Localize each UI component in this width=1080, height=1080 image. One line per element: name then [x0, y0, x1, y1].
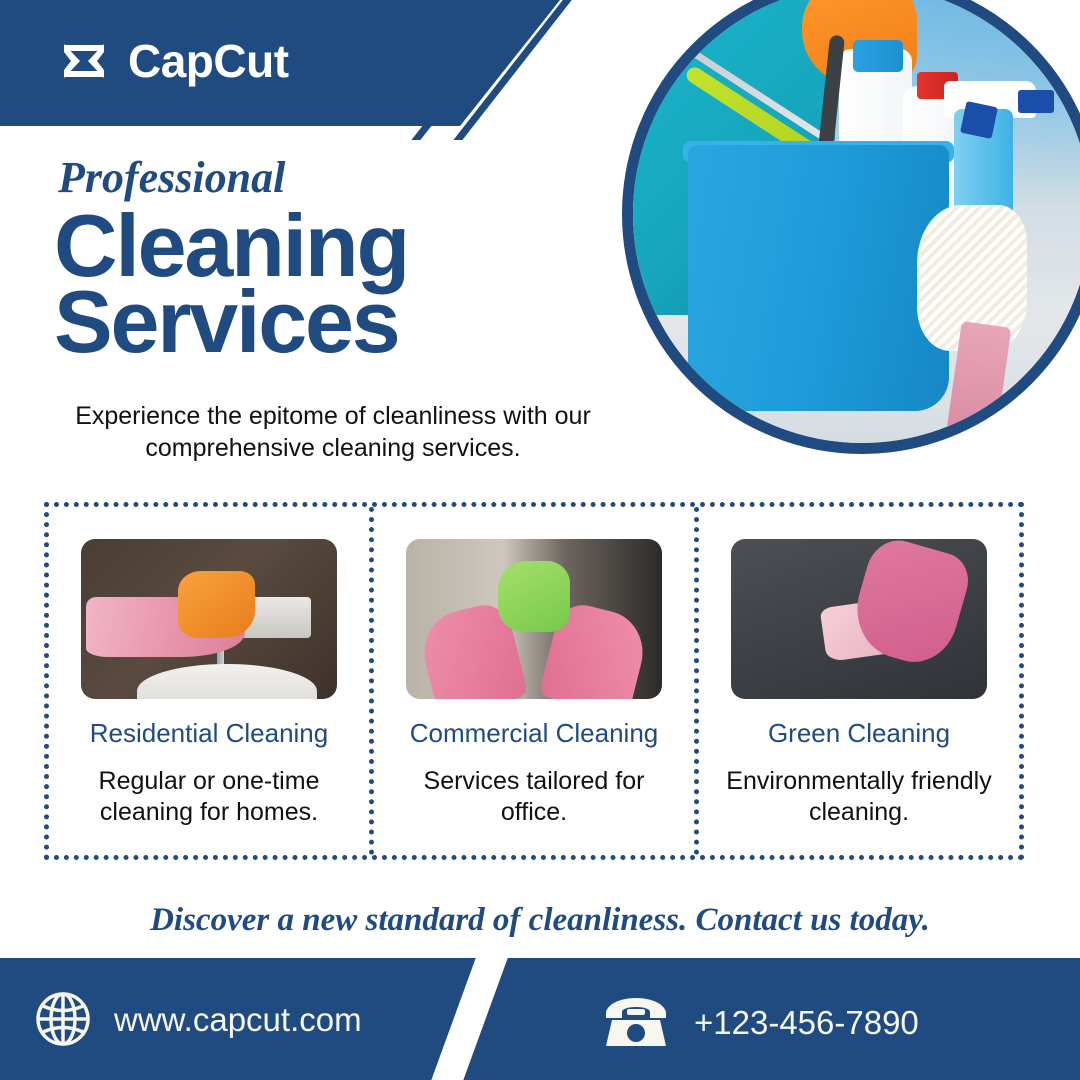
eyebrow-text: Professional: [58, 156, 285, 200]
service-image-residential: [81, 539, 337, 699]
footer-phone[interactable]: +123-456-7890: [600, 996, 919, 1048]
service-card-residential[interactable]: Residential Cleaning Regular or one-time…: [49, 507, 369, 855]
hero-image: [622, 0, 1080, 454]
services-grid: Residential Cleaning Regular or one-time…: [44, 502, 1024, 860]
brand-name: CapCut: [128, 38, 289, 84]
poster-canvas: CapCut Professional Cleaning Services Ex…: [0, 0, 1080, 1080]
service-title: Green Cleaning: [768, 719, 950, 748]
hero-image-art: [633, 0, 1080, 443]
service-title: Commercial Cleaning: [410, 719, 659, 748]
service-card-commercial[interactable]: Commercial Cleaning Services tailored fo…: [369, 507, 694, 855]
hero-bottle-blue-cap-shape: [853, 40, 903, 72]
tagline: Discover a new standard of cleanliness. …: [0, 902, 1080, 939]
phone-text: +123-456-7890: [694, 1006, 919, 1039]
service-card-green[interactable]: Green Cleaning Environmentally friendly …: [694, 507, 1019, 855]
service-title: Residential Cleaning: [90, 719, 328, 748]
hero-spray-trigger-shape: [960, 101, 998, 139]
telephone-icon: [600, 996, 672, 1048]
service-image-commercial: [406, 539, 662, 699]
headline-line-2: Services: [54, 284, 408, 360]
hero-bucket-shape: [688, 145, 949, 411]
brand-logo[interactable]: CapCut: [56, 36, 289, 86]
sink-basin-shape: [137, 664, 316, 699]
website-text: www.capcut.com: [114, 1003, 362, 1036]
service-image-green: [731, 539, 987, 699]
footer-website[interactable]: www.capcut.com: [34, 990, 362, 1048]
globe-icon: [34, 990, 92, 1048]
service-description: Regular or one-time cleaning for homes.: [65, 766, 353, 829]
service-description: Services tailored for office.: [390, 766, 678, 829]
hero-subtitle: Experience the epitome of cleanliness wi…: [48, 400, 618, 464]
capcut-logo-icon: [56, 36, 112, 86]
page-title: Cleaning Services: [54, 208, 408, 359]
service-description: Environmentally friendly cleaning.: [715, 766, 1003, 829]
orange-cloth-shape: [178, 571, 255, 638]
hero-spray-nozzle-shape: [1018, 90, 1055, 113]
green-cloth-shape: [498, 561, 570, 631]
